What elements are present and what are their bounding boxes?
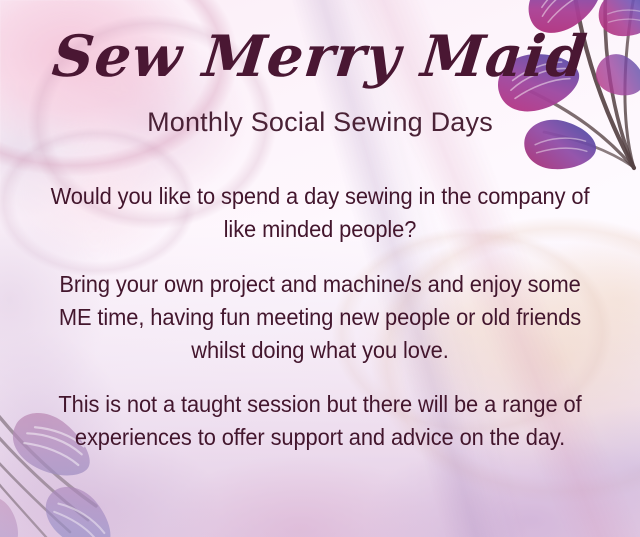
body-paragraph-1: Would you like to spend a day sewing in … [41, 180, 599, 246]
page-title: Sew Merry Maid [0, 28, 640, 85]
poster-canvas: Sew Merry Maid Monthly Social Sewing Day… [0, 0, 640, 537]
body-paragraph-3: This is not a taught session but there w… [41, 388, 599, 454]
page-subtitle: Monthly Social Sewing Days [0, 108, 640, 138]
poster-content: Sew Merry Maid Monthly Social Sewing Day… [0, 0, 640, 537]
body-paragraph-2: Bring your own project and machine/s and… [41, 268, 599, 367]
